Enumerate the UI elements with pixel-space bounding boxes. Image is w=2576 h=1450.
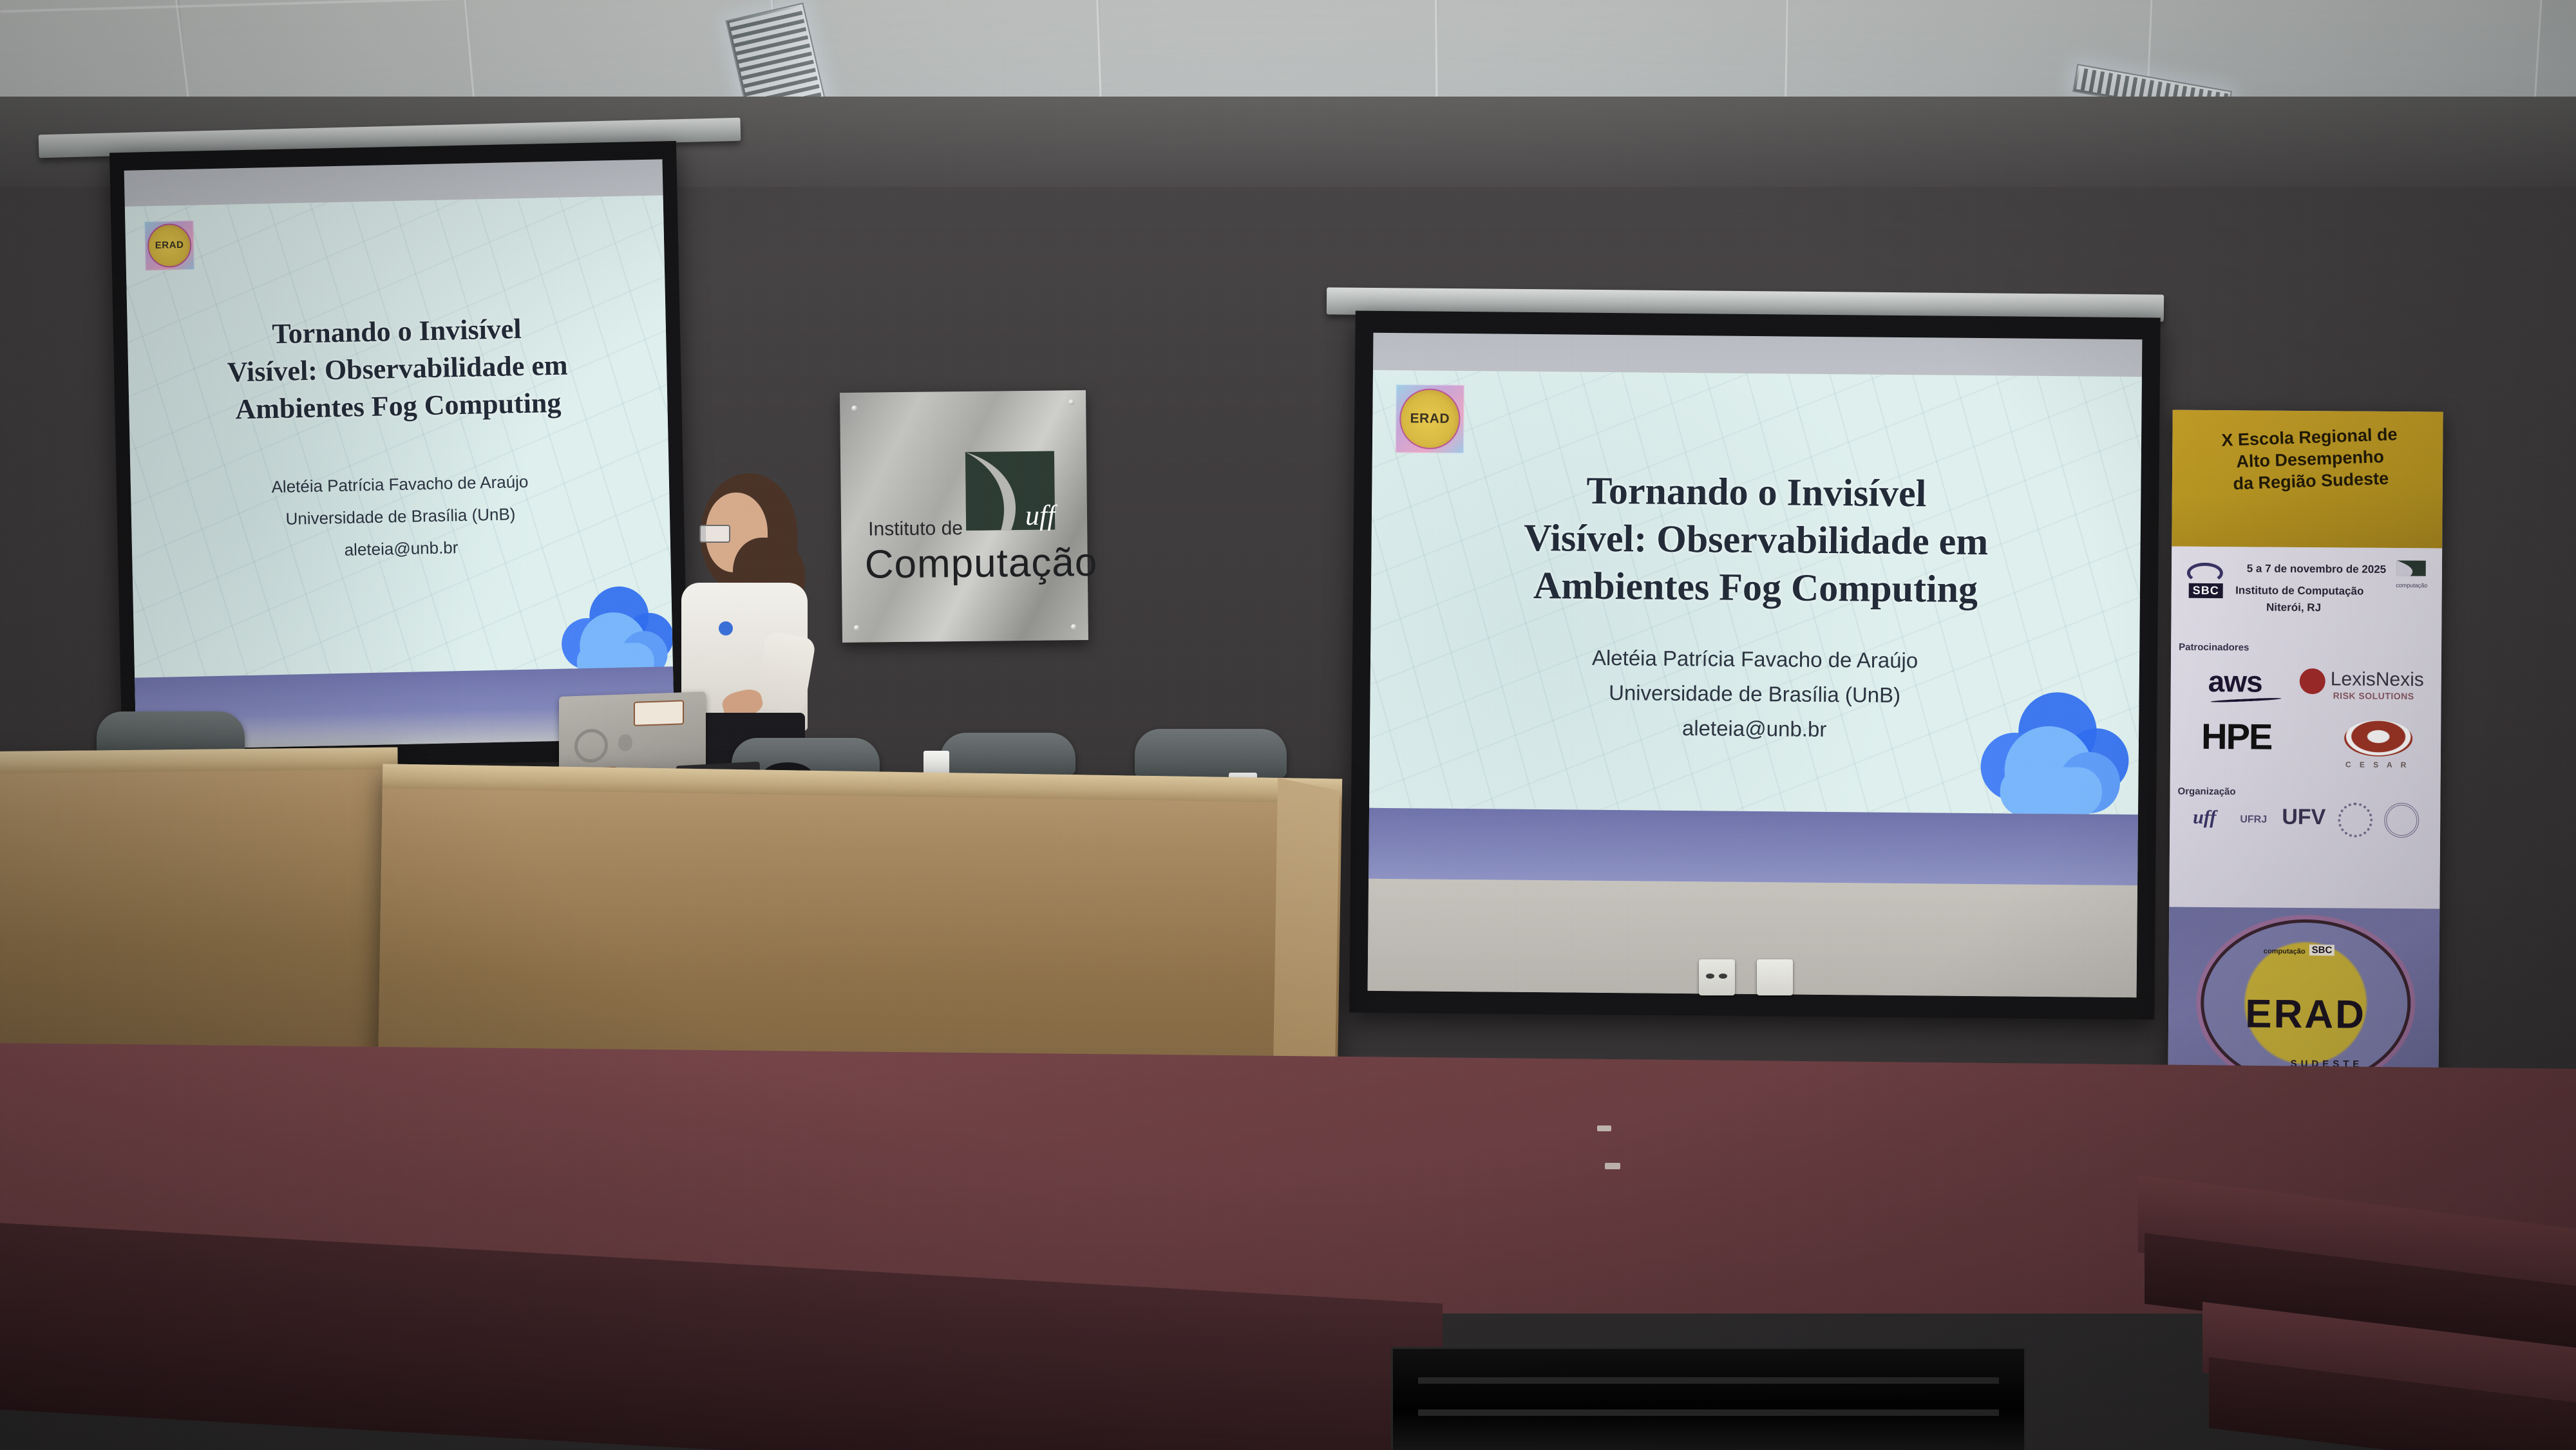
ufes-logo-icon (2382, 804, 2421, 836)
desk-rear (0, 748, 401, 1080)
wall-outlet[interactable] (1699, 959, 1735, 995)
banner-place-line1: Instituto de Computação (2172, 584, 2442, 599)
uff-sail-logo-icon: uff (963, 448, 1057, 534)
event-rollup-banner: X Escola Regional de Alto Desempenho da … (2168, 410, 2443, 1093)
aws-logo-icon: aws (2208, 664, 2262, 699)
projection-screen-left: ERAD Tornando o Invisível Visível: Obser… (109, 141, 689, 771)
cesar-logo-icon (2344, 720, 2412, 757)
chair (940, 733, 1075, 775)
organization-label: Organização (2178, 786, 2236, 798)
slide-left: ERAD Tornando o Invisível Visível: Obser… (125, 195, 674, 721)
slide-title-line2: Visível: Observabilidade em (1371, 514, 2141, 565)
chair (1135, 729, 1287, 778)
banner-place-line2: Niterói, RJ (2171, 601, 2441, 616)
ufrj-logo-icon: UFRJ (2234, 807, 2273, 833)
erad-seal-ic-text: computação (2264, 948, 2306, 956)
slide-title-line1: Tornando o Invisível (1372, 467, 2141, 518)
floor-vent (1391, 1347, 2026, 1450)
banner-date: 5 a 7 de novembro de 2025 (2172, 562, 2442, 577)
lexisnexis-sub-text: RISK SOLUTIONS (2333, 690, 2414, 701)
lexisnexis-mark-icon (2300, 668, 2325, 694)
light-switch[interactable] (1757, 959, 1793, 995)
cloud-network-icon (1918, 677, 2133, 814)
uff-logo-icon: uff (2181, 804, 2228, 832)
sponsors-label: Patrocinadores (2179, 642, 2249, 654)
lexisnexis-logo-text: LexisNexis (2331, 668, 2424, 691)
erad-seal-word: ERAD (2245, 991, 2366, 1037)
floor-debris (1597, 1125, 1611, 1131)
lecture-hall-photo: ERAD Tornando o Invisível Visível: Obser… (0, 0, 2576, 1450)
sign-line-computacao: Computação (864, 540, 1097, 588)
floor-debris (1605, 1163, 1620, 1169)
banner-header: X Escola Regional de Alto Desempenho da … (2172, 410, 2443, 549)
hpe-logo-icon: HPE (2201, 715, 2272, 758)
erad-logo-icon: ERAD (1396, 384, 1464, 453)
erad-logo-text: ERAD (1399, 389, 1460, 449)
banner-body: SBC computação 5 a 7 de novembro de 2025… (2169, 547, 2442, 909)
slide-title-line3: Ambientes Fog Computing (1371, 562, 2141, 613)
apple-logo-icon (618, 734, 632, 751)
sign-line-instituto: Instituto de (868, 518, 963, 541)
slide-right: ERAD Tornando o Invisível Visível: Obser… (1369, 370, 2142, 814)
erad-logo-text: ERAD (147, 223, 191, 268)
projection-screen-right: ERAD Tornando o Invisível Visível: Obser… (1349, 311, 2160, 1020)
slide-author: Aletéia Patrícia Favacho de Araújo (1370, 639, 2139, 679)
erad-logo-icon: ERAD (144, 221, 194, 271)
laptop-sticker (634, 700, 684, 726)
cesar-logo-text: C E S A R (2345, 760, 2410, 769)
ufv-logo-icon: UFV (2278, 804, 2329, 831)
instituto-de-computacao-sign: uff Instituto de Computação (840, 390, 1088, 643)
eyeglasses-icon (699, 525, 730, 543)
svg-text:uff: uff (1025, 499, 1058, 531)
ufjf-logo-icon (2336, 804, 2374, 836)
erad-seal-sbc-text: SBC (2309, 945, 2335, 956)
banner-footer-logo: computação SBC ERAD SUDESTE (2168, 907, 2439, 1093)
